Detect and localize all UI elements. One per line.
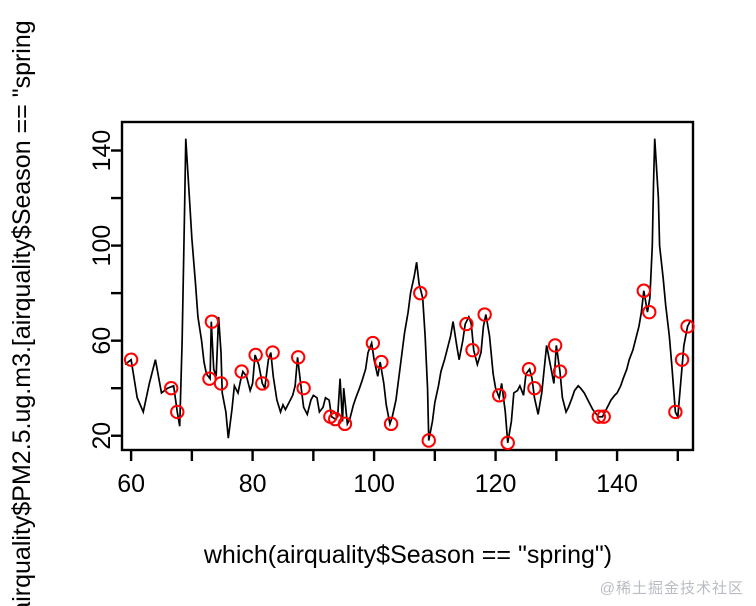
x-axis-label-text: which(airquality$Season == "spring") (203, 541, 612, 569)
x-tick-label: 80 (239, 470, 267, 498)
x-axis-label: which(airquality$Season == "spring") (203, 541, 612, 569)
y-axis-ticks: 2060100140 (88, 130, 122, 450)
y-axis-label-text: airquality$PM2.5.ug.m3.[airquality$Seaso… (8, 20, 36, 606)
y-tick-label: 60 (88, 327, 116, 355)
y-tick-label: 140 (88, 130, 116, 172)
highlight-marker (297, 382, 309, 394)
watermark: @稀土掘金技术社区 (600, 577, 744, 598)
x-tick-label: 140 (596, 470, 638, 498)
y-tick-label: 100 (88, 225, 116, 267)
highlight-marker (549, 339, 561, 351)
x-tick-label: 60 (117, 470, 145, 498)
y-tick-label: 20 (88, 422, 116, 450)
plot-frame (122, 122, 693, 450)
x-tick-label: 100 (353, 470, 395, 498)
highlight-marker (266, 346, 278, 358)
highlight-marker (643, 306, 655, 318)
r-plot-canvas: airquality$PM2.5.ug.m3.[airquality$Seaso… (0, 0, 756, 606)
data-series-line (125, 139, 690, 443)
y-axis-label: airquality$PM2.5.ug.m3.[airquality$Seaso… (8, 20, 36, 606)
x-axis-ticks: 6080100120140 (117, 450, 678, 498)
plot-svg: airquality$PM2.5.ug.m3.[airquality$Seaso… (0, 0, 756, 606)
series-path (125, 139, 690, 443)
x-tick-label: 120 (475, 470, 517, 498)
